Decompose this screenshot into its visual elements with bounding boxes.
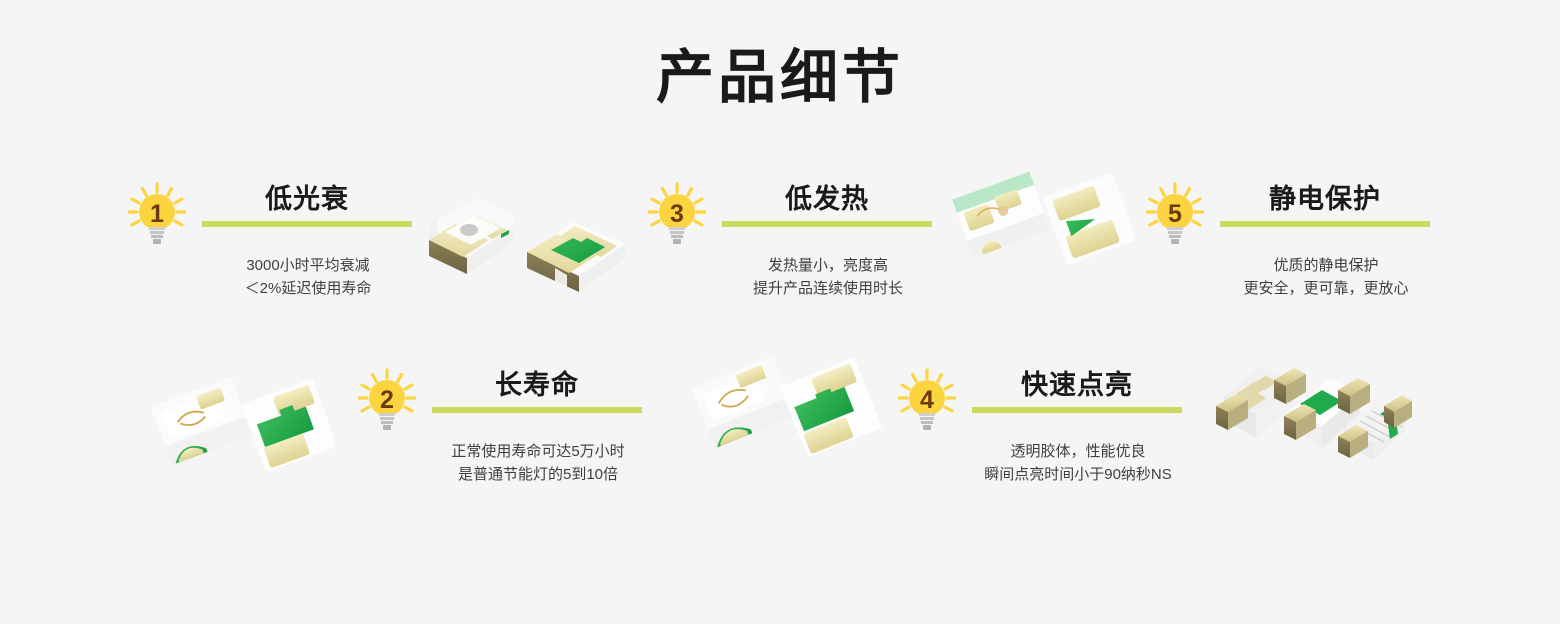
feature-underline-1: [202, 221, 412, 227]
feature-underline-4: [972, 407, 1182, 413]
feature-header-1: 1 低光衰: [128, 182, 448, 244]
feature-title-3: 低发热: [722, 182, 932, 216]
feature-description-4: 透明胶体，性能优良 瞬间点亮时间小于90纳秒NS: [938, 440, 1218, 486]
feature-title-4: 快速点亮: [972, 368, 1182, 402]
lightbulb-icon-5: 5: [1146, 182, 1204, 244]
lightbulb-icon-2: 2: [358, 368, 416, 430]
lightbulb-icon-4: 4: [898, 368, 956, 430]
feature-underline-5: [1220, 221, 1430, 227]
led-product-image-top-right: [950, 163, 1135, 278]
feature-desc-line-1b: ＜2%延迟使用寿命: [168, 277, 448, 300]
bulb-number-4: 4: [920, 386, 934, 414]
feature-header-2: 2 长寿命: [358, 368, 678, 430]
feature-desc-line-4b: 瞬间点亮时间小于90纳秒NS: [938, 463, 1218, 486]
feature-underline-3: [722, 221, 932, 227]
feature-description-3: 发热量小，亮度高 提升产品连续使用时长: [688, 254, 968, 300]
feature-block-1: 1 低光衰 3000小时平均衰减 ＜2%延迟使用寿命: [128, 182, 448, 244]
lightbulb-icon-1: 1: [128, 182, 186, 244]
led-product-image-bottom-right: [1208, 352, 1413, 477]
feature-desc-line-1a: 3000小时平均衰减: [168, 254, 448, 277]
feature-underline-2: [432, 407, 642, 413]
bulb-number-5: 5: [1168, 200, 1182, 228]
product-details-page: 产品细节: [0, 0, 1560, 624]
feature-description-2: 正常使用寿命可达5万小时 是普通节能灯的5到10倍: [398, 440, 678, 486]
feature-title-1: 低光衰: [202, 182, 412, 216]
feature-desc-line-4a: 透明胶体，性能优良: [938, 440, 1218, 463]
feature-block-5: 5 静电保护 优质的静电保护 更安全，更可靠，更放心: [1146, 182, 1466, 244]
bulb-number-2: 2: [380, 386, 394, 414]
feature-description-5: 优质的静电保护 更安全，更可靠，更放心: [1186, 254, 1466, 300]
feature-block-2: 2 长寿命 正常使用寿命可达5万小时 是普通节能灯的5到10倍: [358, 368, 678, 430]
feature-desc-line-2a: 正常使用寿命可达5万小时: [398, 440, 678, 463]
bulb-number-1: 1: [150, 200, 164, 228]
led-product-image-top-left: [415, 178, 640, 303]
feature-header-5: 5 静电保护: [1146, 182, 1466, 244]
feature-description-1: 3000小时平均衰减 ＜2%延迟使用寿命: [168, 254, 448, 300]
led-product-image-bottom-middle: [688, 348, 883, 468]
feature-header-3: 3 低发热: [648, 182, 968, 244]
feature-block-3: 3 低发热 发热量小，亮度高 提升产品连续使用时长: [648, 182, 968, 244]
feature-desc-line-3b: 提升产品连续使用时长: [688, 277, 968, 300]
feature-title-2: 长寿命: [432, 368, 642, 402]
feature-block-4: 4 快速点亮 透明胶体，性能优良 瞬间点亮时间小于90纳秒NS: [898, 368, 1218, 430]
feature-header-4: 4 快速点亮: [898, 368, 1218, 430]
led-product-image-bottom-left: [150, 368, 335, 483]
lightbulb-icon-3: 3: [648, 182, 706, 244]
bulb-number-3: 3: [670, 200, 684, 228]
page-title: 产品细节: [0, 42, 1560, 114]
feature-desc-line-2b: 是普通节能灯的5到10倍: [398, 463, 678, 486]
feature-title-5: 静电保护: [1220, 182, 1430, 216]
feature-desc-line-5a: 优质的静电保护: [1186, 254, 1466, 277]
feature-desc-line-3a: 发热量小，亮度高: [688, 254, 968, 277]
feature-desc-line-5b: 更安全，更可靠，更放心: [1186, 277, 1466, 300]
